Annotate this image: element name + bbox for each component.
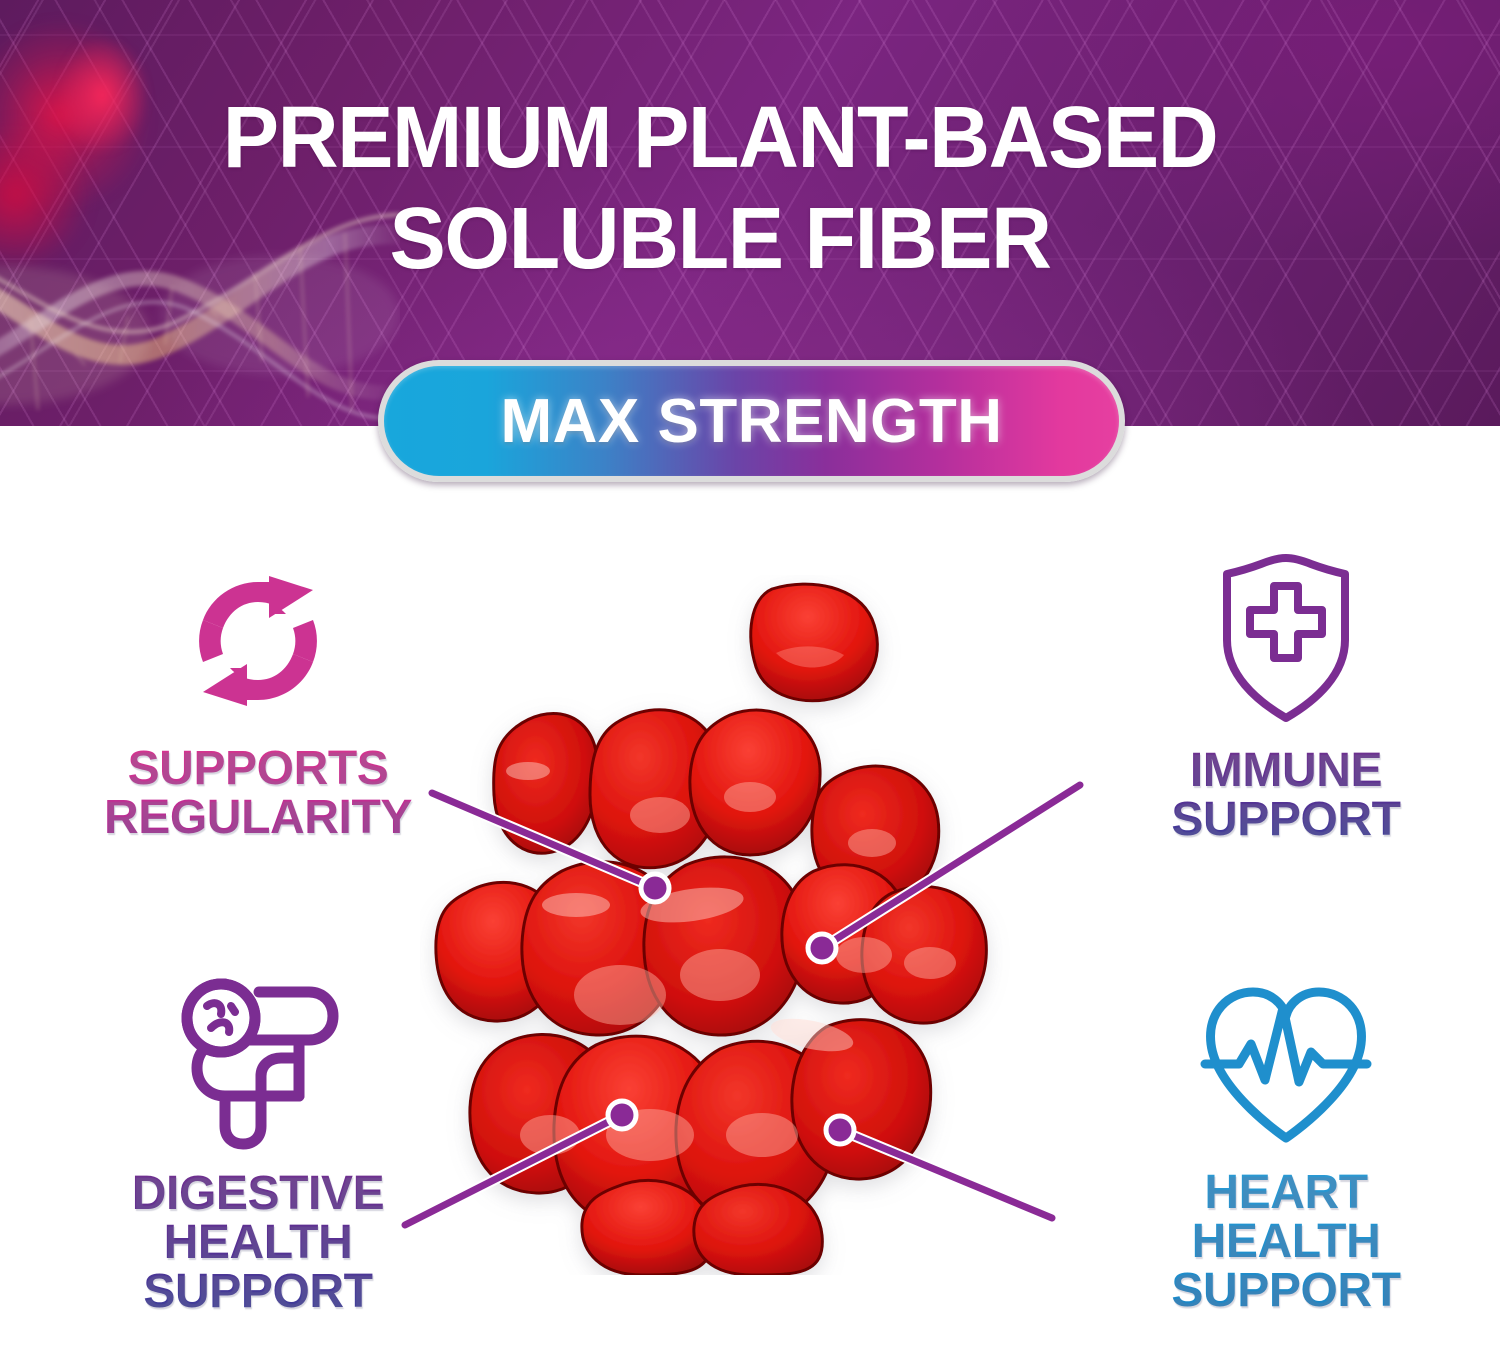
heart-pulse-icon bbox=[1195, 978, 1377, 1155]
feature-supports-regularity: SUPPORTS REGULARITY bbox=[48, 556, 468, 843]
refresh-cycle-icon bbox=[173, 556, 343, 731]
shield-cross-icon bbox=[1205, 548, 1367, 733]
feature-heart-health-support: HEART HEALTH SUPPORT bbox=[1086, 978, 1486, 1316]
feature-digestive-health-support: DIGESTIVE HEALTH SUPPORT bbox=[48, 966, 468, 1317]
title-line-1: PREMIUM PLANT-BASED bbox=[22, 96, 1419, 180]
feature-label: HEART HEALTH SUPPORT bbox=[1171, 1169, 1400, 1316]
feature-immune-support: IMMUNE SUPPORT bbox=[1086, 548, 1486, 845]
feature-label: SUPPORTS REGULARITY bbox=[104, 745, 412, 843]
product-image-gummies bbox=[420, 575, 1040, 1275]
max-strength-badge-label: MAX STRENGTH bbox=[501, 386, 1003, 457]
title-line-2: SOLUBLE FIBER bbox=[22, 197, 1419, 281]
max-strength-badge: MAX STRENGTH bbox=[378, 360, 1125, 482]
page-title: PREMIUM PLANT-BASED SOLUBLE FIBER bbox=[0, 96, 1440, 280]
infographic-page: PREMIUM PLANT-BASED SOLUBLE FIBER MAX ST… bbox=[0, 0, 1500, 1366]
feature-label: IMMUNE SUPPORT bbox=[1171, 747, 1400, 845]
intestine-icon bbox=[163, 966, 353, 1156]
feature-label: DIGESTIVE HEALTH SUPPORT bbox=[132, 1170, 384, 1317]
